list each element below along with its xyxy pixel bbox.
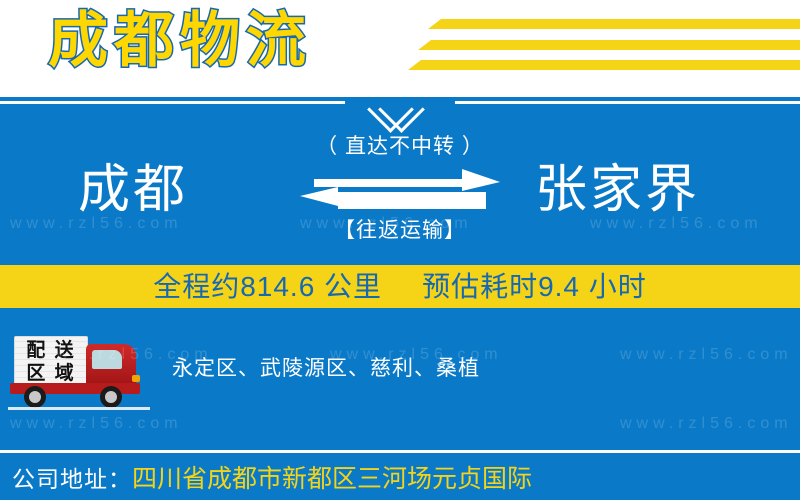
truck-cargo-box: 配 送 区 域 (14, 336, 88, 388)
watermark: www.rzl56.com (620, 415, 793, 433)
roundtrip-label: 【往返运输】 (280, 217, 520, 245)
delivery-badge-text: 配 送 区 域 (20, 339, 82, 385)
route-middle-block: （ 直达不中转 ） 【往返运输】 (280, 133, 520, 245)
header-banner: 成都物流 (0, 0, 800, 97)
divider-with-chevron (0, 97, 800, 133)
footer-divider (0, 450, 800, 453)
body-panel: 成都 （ 直达不中转 ） 【往返运输】 张家界 全程约814.6 公里 预估耗时… (0, 97, 800, 500)
stats-band: 全程约814.6 公里 预估耗时9.4 小时 (0, 265, 800, 308)
footer-address-bar: 公司地址： 四川省成都市新都区三河场元贞国际 (0, 458, 800, 500)
delivery-truck-icon: 配 送 区 域 (8, 334, 150, 404)
divider-line-left (0, 101, 345, 104)
watermark: www.rzl56.com (620, 346, 793, 364)
address-label: 公司地址： (12, 464, 132, 494)
bidirectional-arrow-icon (300, 169, 500, 211)
truck-headlight (132, 375, 140, 382)
route-destination: 张家界 (535, 159, 700, 221)
direct-service-label: （ 直达不中转 ） (280, 133, 520, 161)
decorative-stripe-3 (408, 60, 800, 70)
stat-distance: 全程约814.6 公里 (153, 270, 382, 304)
page-title: 成都物流 (48, 4, 312, 78)
delivery-badge-line1: 配 送 (20, 339, 82, 362)
decorative-stripe-2 (418, 40, 800, 50)
delivery-badge-line2: 区 域 (20, 362, 82, 385)
arrow-left-icon (300, 187, 486, 209)
watermark: www.rzl56.com (10, 415, 183, 433)
truck-wheel-rear (24, 386, 46, 408)
chevron-down-icon (340, 97, 460, 133)
road-line (8, 407, 150, 410)
truck-wheel-front (100, 386, 122, 408)
address-value: 四川省成都市新都区三河场元贞国际 (132, 464, 532, 494)
route-origin: 成都 (78, 159, 188, 221)
decorative-stripe-1 (428, 19, 800, 29)
truck-window (92, 350, 122, 369)
delivery-areas: 永定区、武陵源区、慈利、桑植 (172, 355, 480, 383)
arrow-right-icon (314, 169, 500, 191)
divider-line-right (455, 101, 800, 104)
stat-duration: 预估耗时9.4 小时 (422, 270, 647, 304)
logistics-route-poster: 成都物流 成都 （ 直达不中转 ） 【往返运输】 张家界 (0, 0, 800, 500)
